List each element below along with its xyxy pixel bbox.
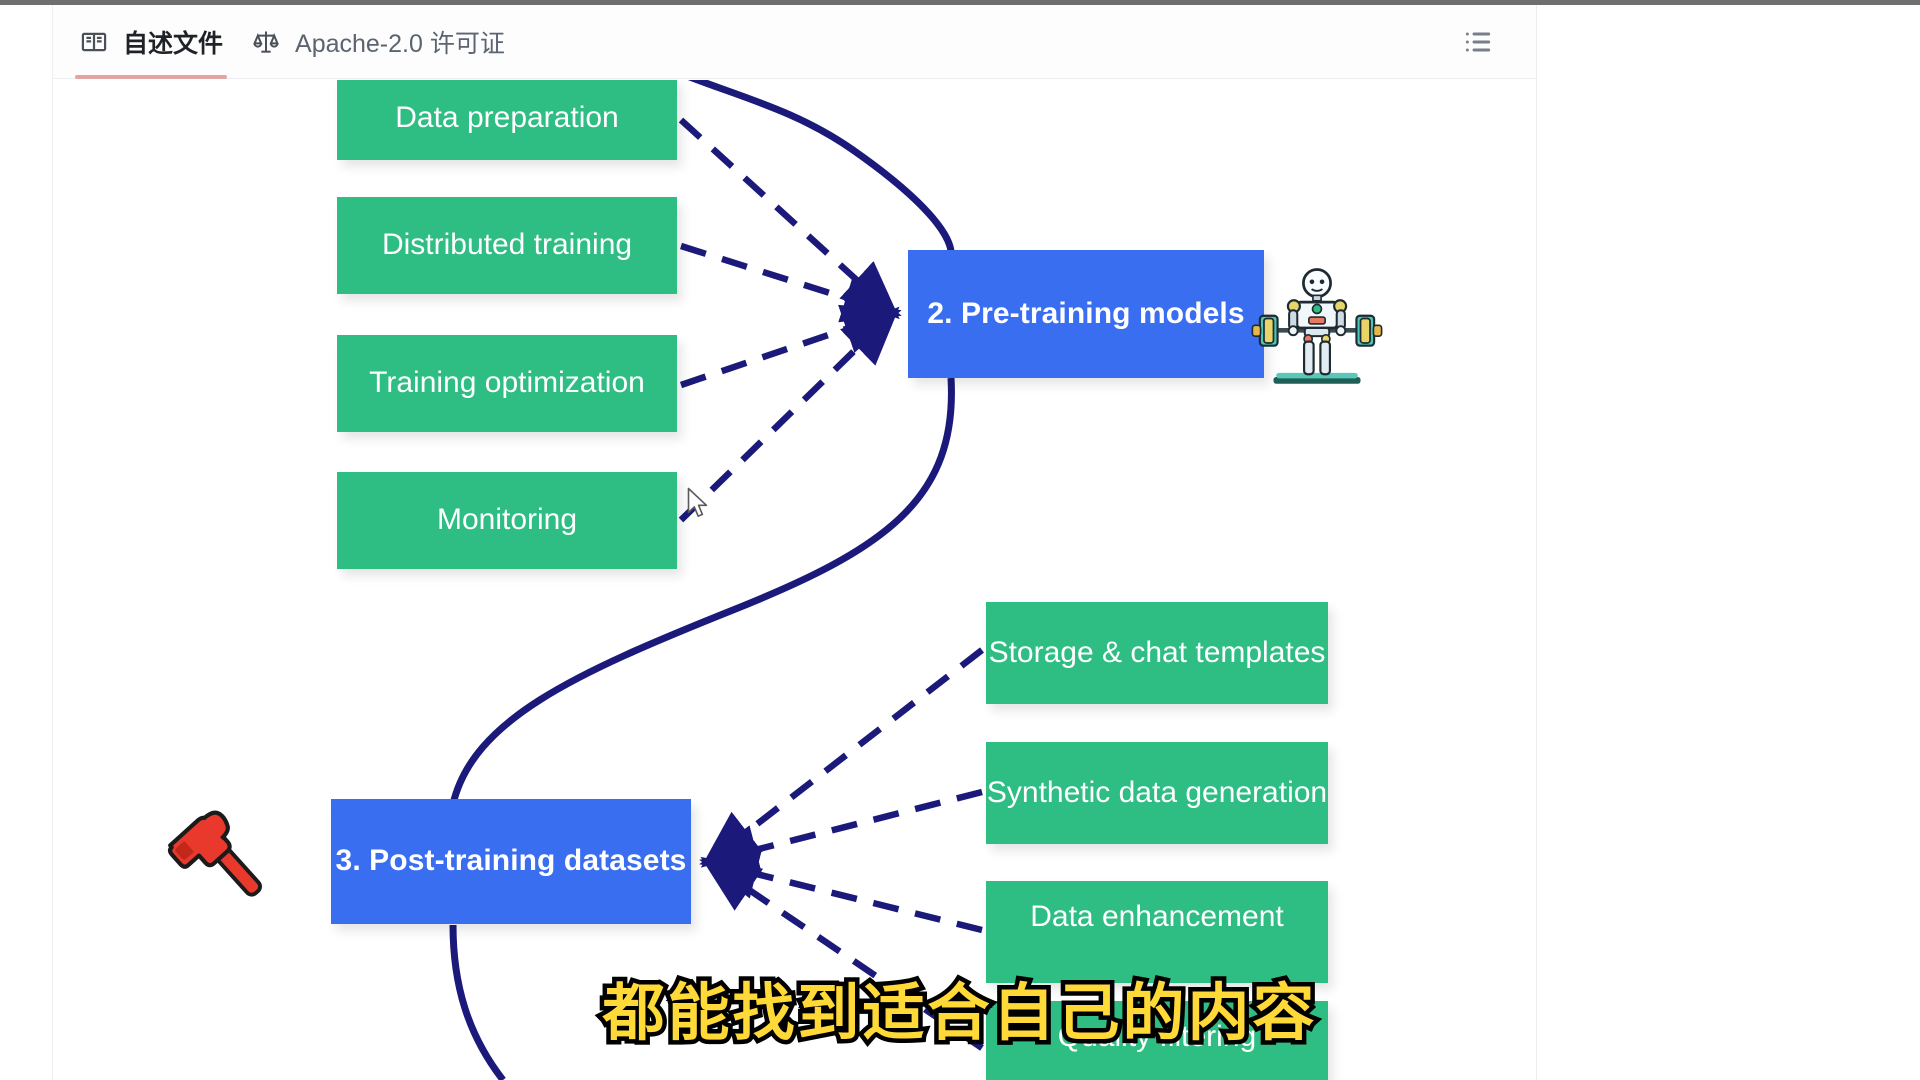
edge-group-pretraining-spokes <box>681 120 893 520</box>
node-distributed-training: Distributed training <box>337 197 677 294</box>
node-monitoring: Monitoring <box>337 472 677 569</box>
tab-bar: 自述文件 Apache-2.0 许可证 <box>53 5 1536 79</box>
tab-readme-label: 自述文件 <box>123 24 223 60</box>
edge-data-enhancement <box>708 862 982 930</box>
book-icon <box>79 27 109 57</box>
tab-license-label: Apache-2.0 许可证 <box>295 24 505 60</box>
node-label: 2. Pre-training models <box>927 296 1244 333</box>
node-synthetic-data-generation: Synthetic data generation <box>986 742 1328 844</box>
edge-pretraining-to-posttraining <box>453 378 951 804</box>
hammer-icon <box>163 795 285 917</box>
node-label: Monitoring <box>437 502 577 539</box>
node-label: Training optimization <box>369 365 645 402</box>
edge-data-preparation <box>681 120 893 313</box>
list-outline-icon[interactable] <box>1462 26 1494 58</box>
edge-distributed-training <box>681 246 893 313</box>
node-training-optimization: Training optimization <box>337 335 677 432</box>
node-label: Data preparation <box>395 100 618 137</box>
tab-readme[interactable]: 自述文件 <box>65 5 237 79</box>
video-subtitle: 都能找到适合自己的内容 <box>0 962 1920 1052</box>
node-label: Storage & chat templates <box>989 635 1326 672</box>
repo-content-card: 自述文件 Apache-2.0 许可证 <box>52 5 1537 1080</box>
tab-license[interactable]: Apache-2.0 许可证 <box>237 5 519 79</box>
node-storage-chat-templates: Storage & chat templates <box>986 602 1328 704</box>
node-label: Synthetic data generation <box>987 775 1327 812</box>
tab-bar-actions <box>1462 26 1494 58</box>
node-data-preparation: Data preparation <box>337 80 677 160</box>
node-post-training-datasets: 3. Post-training datasets <box>331 799 691 924</box>
edge-synthetic-data-generation <box>708 792 982 862</box>
edge-monitoring <box>681 313 893 520</box>
node-pre-training-models: 2. Pre-training models <box>908 250 1264 378</box>
edge-training-optimization <box>681 313 893 385</box>
screen: 自述文件 Apache-2.0 许可证 <box>0 0 1920 1080</box>
diagram-canvas: Data preparation Distributed training Tr… <box>53 80 1536 1080</box>
node-label: 3. Post-training datasets <box>336 843 687 880</box>
robot-weightlifting-icon <box>1249 260 1385 396</box>
scales-icon <box>251 27 281 57</box>
node-label: Data enhancement <box>1030 899 1284 936</box>
node-label: Distributed training <box>382 227 632 264</box>
